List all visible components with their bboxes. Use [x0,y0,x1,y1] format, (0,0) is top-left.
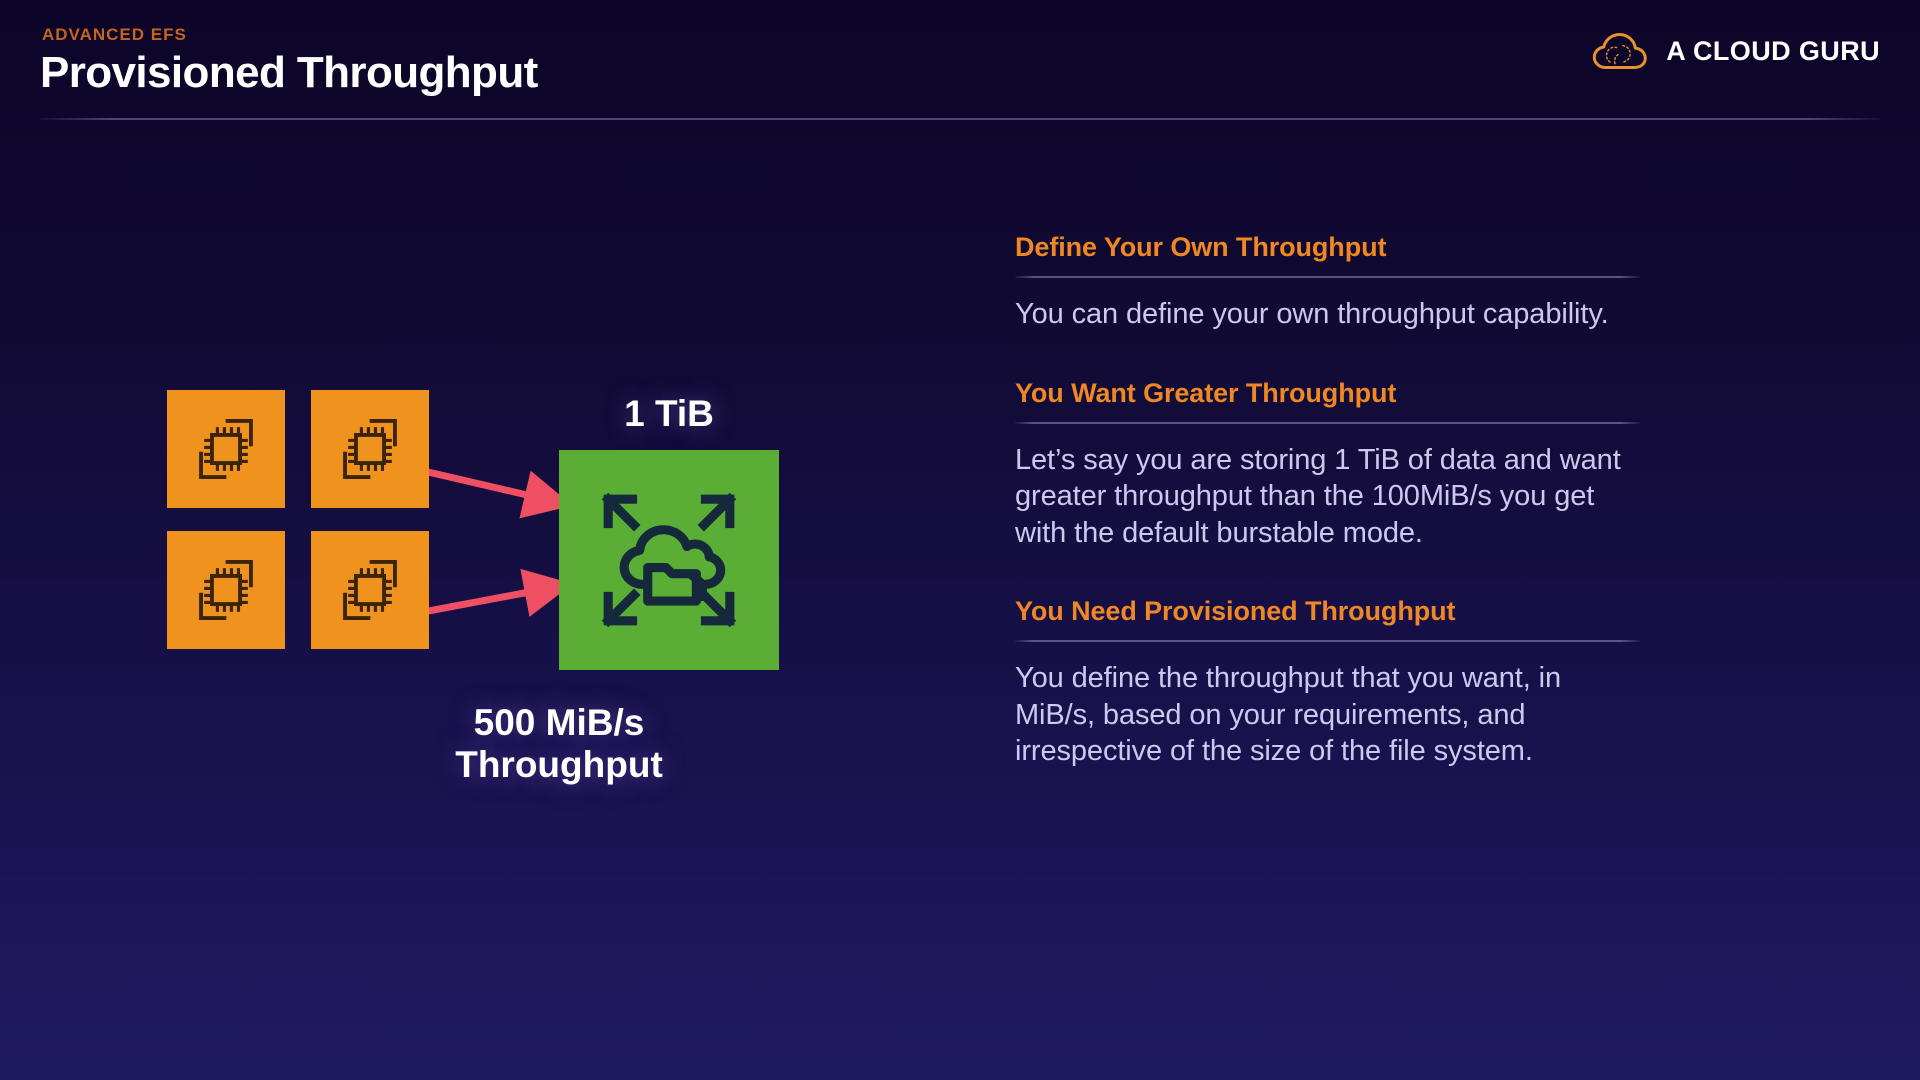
section-heading: You Need Provisioned Throughput [1015,596,1655,640]
storage-capacity-label: 1 TiB [559,393,779,435]
compute-node-grid [167,390,429,649]
section-body: You can define your own throughput capab… [1015,296,1635,333]
compute-node-1 [167,390,285,508]
efs-storage-node [559,450,779,670]
connector-arrows [0,150,960,980]
page-title: Provisioned Throughput [40,48,538,98]
compute-node-2 [311,390,429,508]
brand-name: A CLOUD GURU [1666,36,1880,67]
throughput-value: 500 MiB/s [449,702,669,744]
slide-eyebrow: ADVANCED EFS [42,25,187,45]
compute-node-4 [311,531,429,649]
ec2-instances-icon [187,551,265,629]
slide-header: ADVANCED EFS Provisioned Throughput A CL… [0,0,1920,125]
content-section-you-need-provisioned-throughput: You Need Provisioned Throughput You defi… [1015,596,1655,770]
section-body: Let’s say you are storing 1 TiB of data … [1015,442,1635,552]
compute-node-3 [167,531,285,649]
section-heading: Define Your Own Throughput [1015,232,1655,276]
section-heading: You Want Greater Throughput [1015,378,1655,422]
throughput-diagram: 1 TiB 500 MiB/s Throughput [0,150,960,980]
ec2-instances-icon [187,410,265,488]
section-divider [1015,422,1640,424]
content-section-you-want-greater-throughput: You Want Greater Throughput Let’s say yo… [1015,378,1655,552]
section-divider [1015,640,1640,642]
ec2-instances-icon [331,410,409,488]
ec2-instances-icon [331,551,409,629]
section-divider [1015,276,1640,278]
throughput-caption: Throughput [449,744,669,786]
section-body: You define the throughput that you want,… [1015,660,1635,770]
storage-throughput-label: 500 MiB/s Throughput [449,702,669,786]
content-section-define-your-own-throughput: Define Your Own Throughput You can defin… [1015,232,1655,333]
content-panel: Define Your Own Throughput You can defin… [1015,232,1655,770]
efs-elastic-file-system-icon [593,484,745,636]
brand-lockup: A CLOUD GURU [1590,30,1880,72]
header-divider [40,118,1880,120]
cloud-logo-icon [1590,30,1650,72]
